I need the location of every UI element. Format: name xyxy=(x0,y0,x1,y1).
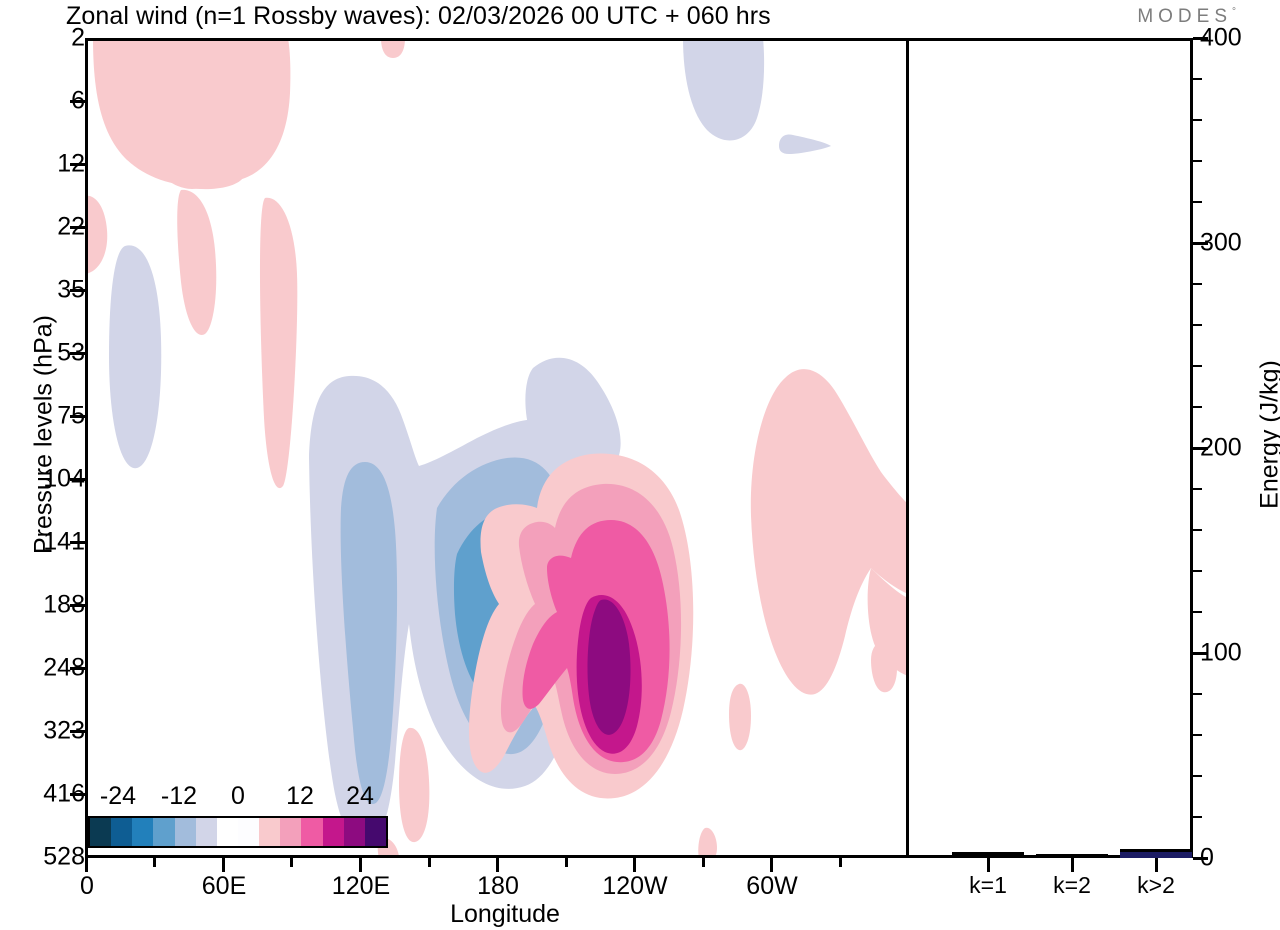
y-tick xyxy=(70,226,85,229)
x-tick-label: 0 xyxy=(80,872,94,901)
y-tick xyxy=(70,415,85,418)
energy-tick xyxy=(1193,652,1208,655)
colorbar-swatch xyxy=(344,818,365,846)
energy-tick-minor xyxy=(1193,775,1202,777)
x-tick-label: 120W xyxy=(602,872,667,901)
colorbar-swatch xyxy=(301,818,322,846)
x-tick-label: 120E xyxy=(332,872,390,901)
colorbar-swatch xyxy=(153,818,174,846)
energy-tick-minor xyxy=(1193,201,1202,203)
x-tick xyxy=(496,858,499,872)
x-tick-minor xyxy=(839,858,842,867)
page-title: Zonal wind (n=1 Rossby waves): 02/03/202… xyxy=(66,2,771,31)
energy-tick-minor xyxy=(1193,324,1202,326)
y-tick xyxy=(70,604,85,607)
energy-bar-label: k=1 xyxy=(969,872,1007,899)
plot-frame xyxy=(85,38,1193,858)
energy-tick-minor xyxy=(1193,488,1202,490)
x-tick xyxy=(633,858,636,872)
colorbar-swatch xyxy=(280,818,301,846)
y-tick xyxy=(70,163,85,166)
x-tick-minor xyxy=(290,858,293,867)
energy-tick-minor xyxy=(1193,734,1202,736)
colorbar-swatch xyxy=(175,818,196,846)
colorbar-swatch xyxy=(259,818,280,846)
energy-tick-minor xyxy=(1193,160,1202,162)
energy-tick-minor xyxy=(1193,283,1202,285)
y-tick xyxy=(70,100,85,103)
y-tick-label: 2 xyxy=(71,24,85,53)
energy-tick-minor xyxy=(1193,816,1202,818)
energy-tick xyxy=(1193,857,1208,860)
y-tick xyxy=(70,541,85,544)
x-axis-title: Longitude xyxy=(0,900,1010,929)
y-tick xyxy=(70,478,85,481)
y-tick xyxy=(70,793,85,796)
y-tick xyxy=(70,289,85,292)
x-tick-minor xyxy=(153,858,156,867)
energy-tick xyxy=(1193,37,1208,40)
energy-tick-k1 xyxy=(987,858,990,872)
y-tick xyxy=(70,730,85,733)
energy-tick xyxy=(1193,242,1208,245)
colorbar-label: 0 xyxy=(231,782,245,811)
colorbar-swatch xyxy=(365,818,386,846)
colorbar-swatch xyxy=(196,818,217,846)
x-tick-minor xyxy=(428,858,431,867)
energy-tick-k2 xyxy=(1071,858,1074,872)
energy-bar-label: k>2 xyxy=(1137,872,1175,899)
x-tick-label: 60E xyxy=(202,872,246,901)
energy-tick-kgt2 xyxy=(1155,858,1158,872)
energy-tick-minor xyxy=(1193,365,1202,367)
energy-tick-minor xyxy=(1193,119,1202,121)
energy-tick-minor xyxy=(1193,693,1202,695)
colorbar-swatch xyxy=(132,818,153,846)
colorbar xyxy=(88,816,388,848)
energy-axis-title: Energy (J/kg) xyxy=(1256,285,1280,585)
energy-bar-label: k=2 xyxy=(1053,872,1091,899)
energy-tick-minor xyxy=(1193,406,1202,408)
energy-tick xyxy=(1193,447,1208,450)
colorbar-swatch xyxy=(111,818,132,846)
y-tick-label: 528 xyxy=(43,843,85,872)
x-tick-minor xyxy=(565,858,568,867)
colorbar-label: 24 xyxy=(346,782,374,811)
colorbar-swatch xyxy=(323,818,344,846)
colorbar-label: 12 xyxy=(286,782,314,811)
x-tick-label: 180 xyxy=(477,872,519,901)
y-tick xyxy=(70,667,85,670)
energy-bar-kgt2-cap xyxy=(1120,849,1192,852)
colorbar-swatch xyxy=(238,818,259,846)
colorbar-label: -12 xyxy=(161,782,197,811)
panel-divider xyxy=(906,38,909,858)
x-tick xyxy=(222,858,225,872)
y-axis-title: Pressure levels (hPa) xyxy=(30,285,59,585)
colorbar-swatch xyxy=(90,818,111,846)
colorbar-swatch xyxy=(217,818,238,846)
x-tick xyxy=(85,858,88,872)
x-tick xyxy=(359,858,362,872)
energy-tick-minor xyxy=(1193,611,1202,613)
energy-tick-minor xyxy=(1193,78,1202,80)
x-tick-label: 60W xyxy=(746,872,797,901)
energy-tick-minor xyxy=(1193,570,1202,572)
energy-tick-minor xyxy=(1193,529,1202,531)
degree-icon: ° xyxy=(1232,7,1236,18)
x-tick-minor xyxy=(702,858,705,867)
y-tick xyxy=(70,352,85,355)
colorbar-label: -24 xyxy=(100,782,136,811)
x-tick xyxy=(770,858,773,872)
